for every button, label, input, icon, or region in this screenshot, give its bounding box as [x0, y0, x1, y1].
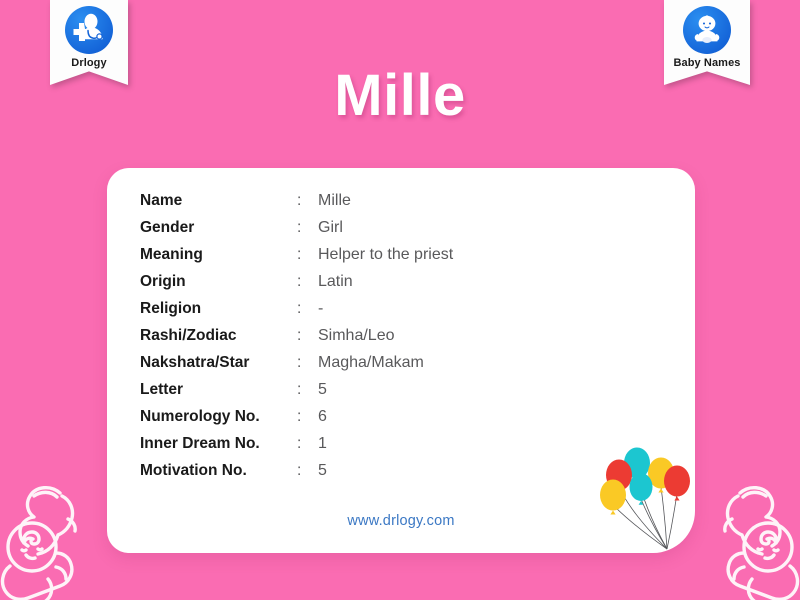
- table-row: Inner Dream No. : 1: [140, 435, 453, 462]
- row-label: Meaning: [140, 246, 297, 264]
- row-label: Name: [140, 192, 297, 210]
- row-label: Religion: [140, 300, 297, 318]
- row-separator: :: [297, 435, 318, 453]
- row-separator: :: [297, 246, 318, 264]
- table-row: Meaning : Helper to the priest: [140, 246, 453, 273]
- row-separator: :: [297, 408, 318, 426]
- row-value: 1: [318, 435, 327, 453]
- row-value: Latin: [318, 273, 353, 291]
- detail-rows: Name : Mille Gender : Girl Meaning : Hel…: [140, 192, 453, 489]
- table-row: Gender : Girl: [140, 219, 453, 246]
- website-url-link[interactable]: www.drlogy.com: [107, 513, 695, 529]
- table-row: Letter : 5: [140, 381, 453, 408]
- row-separator: :: [297, 273, 318, 291]
- page-title: Mille: [0, 62, 800, 129]
- table-row: Numerology No. : 6: [140, 408, 453, 435]
- row-label: Rashi/Zodiac: [140, 327, 297, 345]
- row-separator: :: [297, 300, 318, 318]
- row-value: -: [318, 300, 323, 318]
- table-row: Name : Mille: [140, 192, 453, 219]
- row-value: Helper to the priest: [318, 246, 453, 264]
- row-value: Girl: [318, 219, 343, 237]
- row-label: Motivation No.: [140, 462, 297, 480]
- row-label: Gender: [140, 219, 297, 237]
- name-detail-card: Name : Mille Gender : Girl Meaning : Hel…: [107, 168, 695, 553]
- corner-art-mother-baby-left: [0, 471, 106, 600]
- row-separator: :: [297, 192, 318, 210]
- row-label: Origin: [140, 273, 297, 291]
- row-separator: :: [297, 219, 318, 237]
- row-label: Inner Dream No.: [140, 435, 297, 453]
- table-row: Rashi/Zodiac : Simha/Leo: [140, 327, 453, 354]
- balloons-icon: [597, 439, 693, 553]
- row-separator: :: [297, 462, 318, 480]
- row-value: Mille: [318, 192, 351, 210]
- baby-icon: [683, 6, 731, 54]
- table-row: Nakshatra/Star : Magha/Makam: [140, 354, 453, 381]
- row-separator: :: [297, 354, 318, 372]
- row-value: Magha/Makam: [318, 354, 424, 372]
- row-value: 6: [318, 408, 327, 426]
- row-value: Simha/Leo: [318, 327, 395, 345]
- row-label: Numerology No.: [140, 408, 297, 426]
- row-separator: :: [297, 327, 318, 345]
- row-separator: :: [297, 381, 318, 399]
- row-label: Letter: [140, 381, 297, 399]
- row-value: 5: [318, 462, 327, 480]
- doctor-medical-cross-icon: [65, 6, 113, 54]
- table-row: Origin : Latin: [140, 273, 453, 300]
- corner-art-mother-baby-right: [694, 471, 800, 600]
- table-row: Motivation No. : 5: [140, 462, 453, 489]
- table-row: Religion : -: [140, 300, 453, 327]
- row-label: Nakshatra/Star: [140, 354, 297, 372]
- row-value: 5: [318, 381, 327, 399]
